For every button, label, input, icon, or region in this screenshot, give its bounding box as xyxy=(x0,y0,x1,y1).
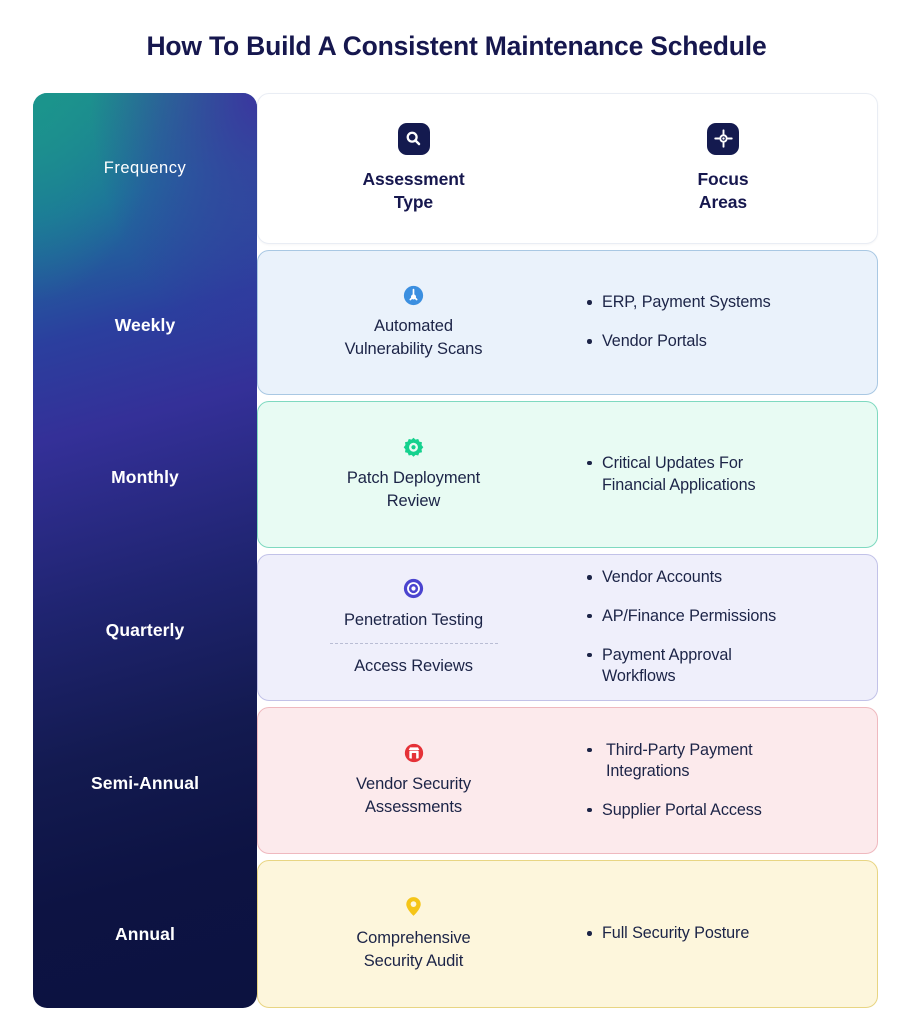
frequency-label-semi-annual: Semi-Annual xyxy=(33,707,257,860)
table-row-semi-annual: Vendor Security Assessments Third-Party … xyxy=(257,707,878,854)
assessment-type-line1-monthly: Patch Deployment xyxy=(347,467,480,490)
cell-assessment-type-annual: Comprehensive Security Audit xyxy=(258,896,569,973)
assessment-type-line2-annual: Security Audit xyxy=(364,950,464,973)
list-item: Full Security Posture xyxy=(585,923,859,945)
frequency-label-weekly: Weekly xyxy=(33,250,257,401)
list-item: Vendor Accounts xyxy=(585,567,859,589)
infographic-page: How To Build A Consistent Maintenance Sc… xyxy=(0,0,913,1024)
assessment-type-line2-monthly: Review xyxy=(387,490,441,513)
assessment-type-line2-semi-annual: Assessments xyxy=(365,796,462,819)
focus-area-list-weekly: ERP, Payment Systems Vendor Portals xyxy=(585,292,859,352)
assessment-type-line2-weekly: Vulnerability Scans xyxy=(345,338,483,361)
assessment-type-line1-quarterly: Penetration Testing xyxy=(344,609,483,632)
cell-assessment-type-semi-annual: Vendor Security Assessments xyxy=(258,742,569,819)
table-row-annual: Comprehensive Security Audit Full Securi… xyxy=(257,860,878,1008)
schedule-table: Frequency Weekly Monthly Quarterly Semi-… xyxy=(33,93,878,1008)
store-shop-icon xyxy=(403,742,425,764)
header-cell-assessment-type: Assessment Type xyxy=(258,123,569,214)
assessment-type-line1-weekly: Automated xyxy=(374,315,453,338)
radar-scan-icon xyxy=(403,284,425,306)
assessment-type-extra-quarterly: Access Reviews xyxy=(354,655,473,678)
cell-assessment-type-quarterly: Penetration Testing Access Reviews xyxy=(258,578,569,678)
cell-focus-areas-semi-annual: Third-Party Payment Integrations Supplie… xyxy=(569,740,877,822)
cell-focus-areas-quarterly: Vendor Accounts AP/Finance Permissions P… xyxy=(569,567,877,687)
target-circle-icon xyxy=(403,578,425,600)
frequency-label-quarterly: Quarterly xyxy=(33,554,257,707)
header-label-focus-line2: Areas xyxy=(699,191,747,214)
header-label-focus-line1: Focus xyxy=(697,168,748,191)
cell-focus-areas-annual: Full Security Posture xyxy=(569,923,877,945)
table-row-weekly: Automated Vulnerability Scans ERP, Payme… xyxy=(257,250,878,395)
list-item: Supplier Portal Access xyxy=(585,800,859,822)
cell-assessment-type-monthly: Patch Deployment Review xyxy=(258,436,569,513)
cell-focus-areas-weekly: ERP, Payment Systems Vendor Portals xyxy=(569,292,877,352)
frequency-label-monthly: Monthly xyxy=(33,401,257,554)
table-header-row: Assessment Type Focus xyxy=(257,93,878,244)
focus-area-list-monthly: Critical Updates For Financial Applicati… xyxy=(585,453,859,496)
list-item: Critical Updates For Financial Applicati… xyxy=(585,453,800,496)
page-title: How To Build A Consistent Maintenance Sc… xyxy=(0,31,913,62)
magnifier-icon xyxy=(398,123,430,155)
location-pin-icon xyxy=(403,896,425,918)
assessment-type-line1-annual: Comprehensive xyxy=(356,927,470,950)
focus-area-list-annual: Full Security Posture xyxy=(585,923,859,945)
focus-area-list-quarterly: Vendor Accounts AP/Finance Permissions P… xyxy=(585,567,859,687)
cell-focus-areas-monthly: Critical Updates For Financial Applicati… xyxy=(569,453,877,496)
gear-icon xyxy=(403,436,425,458)
table-row-quarterly: Penetration Testing Access Reviews Vendo… xyxy=(257,554,878,701)
frequency-header-label: Frequency xyxy=(33,93,257,244)
table-row-monthly: Patch Deployment Review Critical Updates… xyxy=(257,401,878,548)
list-item: Vendor Portals xyxy=(585,331,859,353)
frequency-label-annual: Annual xyxy=(33,860,257,1008)
assessment-type-divider xyxy=(330,643,498,644)
list-item: Third-Party Payment Integrations xyxy=(585,740,775,783)
crosshair-target-icon xyxy=(707,123,739,155)
header-cell-focus-areas: Focus Areas xyxy=(569,123,877,214)
cell-assessment-type-weekly: Automated Vulnerability Scans xyxy=(258,284,569,361)
header-label-assessment-line1: Assessment xyxy=(362,168,464,191)
list-item: ERP, Payment Systems xyxy=(585,292,859,314)
assessment-type-line1-semi-annual: Vendor Security xyxy=(356,773,471,796)
list-item: AP/Finance Permissions xyxy=(585,606,859,628)
frequency-column: Frequency Weekly Monthly Quarterly Semi-… xyxy=(33,93,257,1008)
list-item: Payment Approval Workflows xyxy=(585,645,765,688)
focus-area-list-semi-annual: Third-Party Payment Integrations Supplie… xyxy=(585,740,859,822)
header-label-assessment-line2: Type xyxy=(394,191,433,214)
